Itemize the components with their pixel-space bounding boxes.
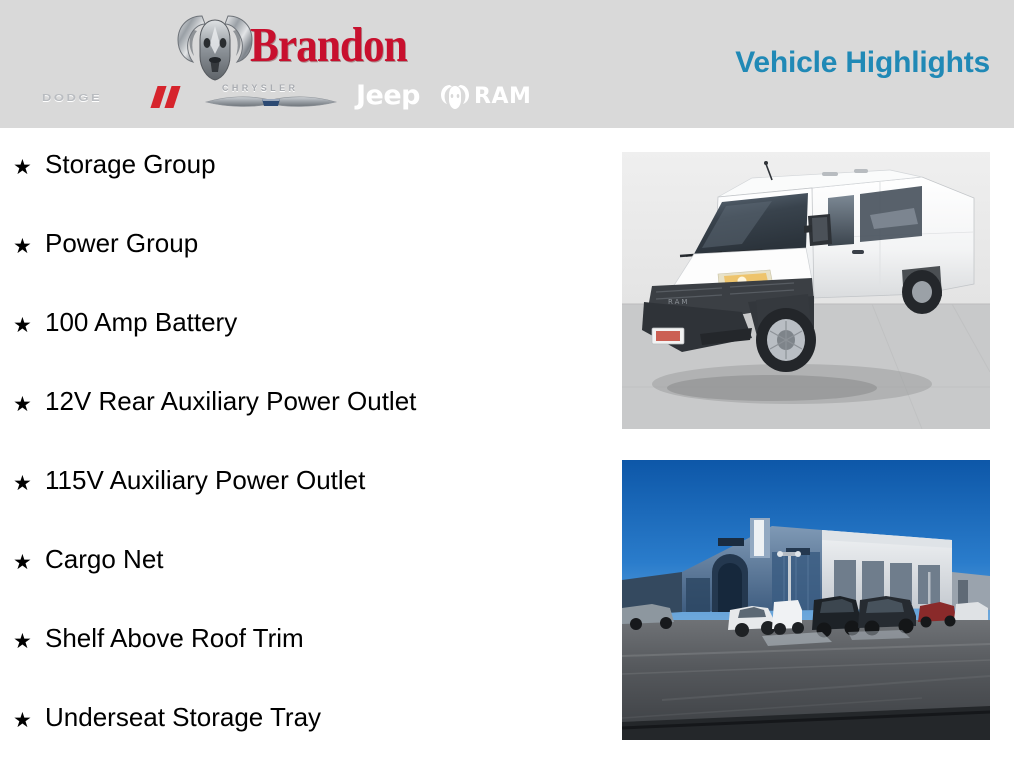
list-item: ★ 115V Auxiliary Power Outlet	[0, 464, 600, 543]
highlight-label: Underseat Storage Tray	[45, 703, 321, 733]
brand-dodge[interactable]: DODGE	[42, 82, 192, 114]
page-title: Vehicle Highlights	[735, 46, 990, 80]
highlight-label: Cargo Net	[45, 545, 164, 575]
dodge-slashes-icon-2	[164, 86, 180, 108]
brand-chrysler-label: CHRYSLER	[222, 83, 298, 93]
brand-ram[interactable]: RAM	[440, 82, 560, 114]
star-bullet-icon: ★	[13, 236, 32, 257]
highlight-label: 100 Amp Battery	[45, 308, 237, 338]
list-item: ★ 12V Rear Auxiliary Power Outlet	[0, 385, 600, 464]
list-item: ★ Storage Group	[0, 148, 600, 227]
chrysler-wings-icon	[204, 95, 338, 110]
brand-chrysler[interactable]: CHRYSLER	[204, 82, 342, 114]
list-item: ★ Power Group	[0, 227, 600, 306]
star-bullet-icon: ★	[13, 631, 32, 652]
star-bullet-icon: ★	[13, 710, 32, 731]
vehicle-highlights-list: ★ Storage Group ★ Power Group ★ 100 Amp …	[0, 148, 600, 780]
star-bullet-icon: ★	[13, 473, 32, 494]
star-bullet-icon: ★	[13, 552, 32, 573]
dealership-photo[interactable]	[622, 460, 990, 740]
dodge-slashes-icon	[150, 86, 166, 108]
highlight-label: Storage Group	[45, 150, 216, 180]
brand-dodge-label: DODGE	[42, 92, 102, 104]
list-item: ★ Underseat Storage Tray	[0, 701, 600, 780]
brand-ram-label: RAM	[474, 86, 531, 108]
highlight-label: 115V Auxiliary Power Outlet	[45, 466, 365, 496]
dealer-name: Brandon	[250, 20, 407, 69]
list-item: ★ Shelf Above Roof Trim	[0, 622, 600, 701]
promaster-van-image: RAM	[622, 152, 990, 429]
star-bullet-icon: ★	[13, 394, 32, 415]
highlight-label: Shelf Above Roof Trim	[45, 624, 304, 654]
brand-jeep[interactable]: Jeep	[356, 82, 432, 114]
star-bullet-icon: ★	[13, 157, 32, 178]
highlight-label: 12V Rear Auxiliary Power Outlet	[45, 387, 416, 417]
ram-head-emblem-icon	[172, 10, 258, 82]
dealer-logo[interactable]: Brandon DODGE CHRYSLER	[34, 8, 534, 120]
jeep-wordmark-icon: Jeep	[356, 82, 420, 109]
svg-text:RAM: RAM	[668, 298, 689, 306]
star-bullet-icon: ★	[13, 315, 32, 336]
vehicle-photo[interactable]: RAM	[622, 152, 990, 429]
highlight-label: Power Group	[45, 229, 198, 259]
header-bar: Brandon DODGE CHRYSLER	[0, 0, 1014, 128]
list-item: ★ Cargo Net	[0, 543, 600, 622]
dealership-exterior-image	[622, 460, 990, 740]
list-item: ★ 100 Amp Battery	[0, 306, 600, 385]
ram-head-icon	[440, 83, 470, 110]
